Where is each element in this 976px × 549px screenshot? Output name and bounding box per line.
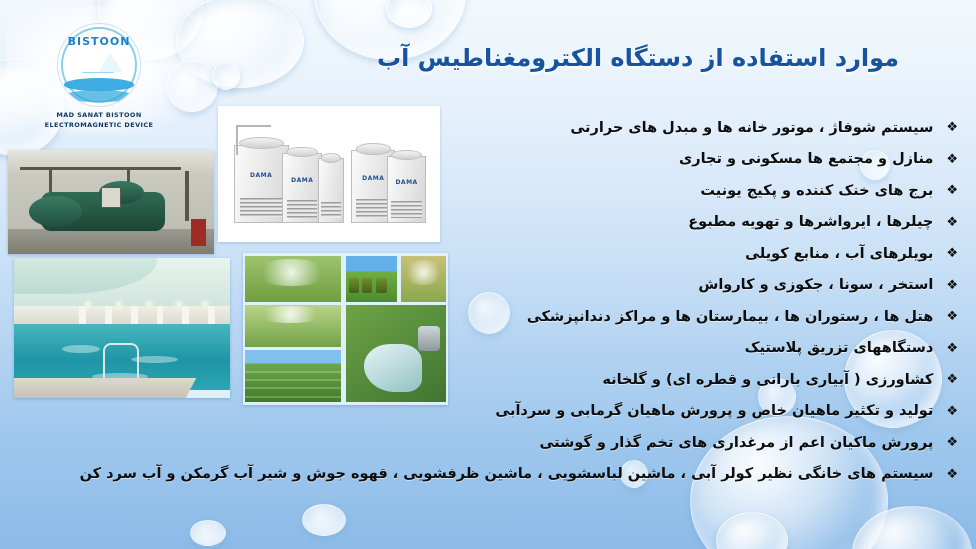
- list-item-label: کشاورزی ( آبیاری بارانی و قطره ای) و گلخ…: [602, 372, 933, 388]
- wave-icon: [64, 90, 134, 102]
- bullet-diamond-icon: ❖: [946, 121, 958, 134]
- bullet-diamond-icon: ❖: [946, 373, 958, 386]
- bullet-diamond-icon: ❖: [946, 184, 958, 197]
- bullet-diamond-icon: ❖: [946, 153, 958, 166]
- decorative-bubble: [716, 512, 788, 549]
- list-item-label: برج های خنک کننده و پکیج یونیت: [700, 183, 933, 199]
- list-item: ❖ منازل و مجتمع ها مسکونی و تجاری: [78, 144, 958, 176]
- bullet-diamond-icon: ❖: [946, 342, 958, 355]
- list-item-label: چیلرها ، ایرواشرها و تهویه مطبوع: [688, 214, 933, 230]
- decorative-bubble: [386, 0, 432, 28]
- presentation-slide: BISTOON MAD SANAT BISTOON ELECTROMAGNETI…: [0, 0, 976, 549]
- logo-wordmark: BISTOON: [58, 35, 140, 48]
- list-item-label: بویلرهای آب ، منابع کویلی: [745, 246, 933, 262]
- list-item: ❖ پرورش ماکیان اعم از مرغداری های تخم گذ…: [78, 427, 958, 459]
- bistoon-logo-mark: BISTOON: [58, 24, 140, 106]
- decorative-bubble: [302, 504, 346, 536]
- list-item-label: دستگاههای تزریق پلاستیک: [745, 340, 934, 356]
- decorative-bubble: [190, 520, 226, 546]
- list-item: ❖ برج های خنک کننده و پکیج یونیت: [78, 175, 958, 207]
- bullet-diamond-icon: ❖: [946, 436, 958, 449]
- bullet-diamond-icon: ❖: [946, 216, 958, 229]
- slide-title: موارد استفاده از دستگاه الکترومغناطیس آب: [328, 44, 948, 72]
- list-item-label: سیستم شوفاژ ، موتور خانه ها و مبدل های ح…: [570, 120, 933, 136]
- bullet-diamond-icon: ❖: [946, 310, 958, 323]
- list-item-label: پرورش ماکیان اعم از مرغداری های تخم گذار…: [539, 435, 933, 451]
- bullet-diamond-icon: ❖: [946, 468, 958, 481]
- list-item: ❖ استخر ، سونا ، جکوزی و کارواش: [78, 270, 958, 302]
- bullet-diamond-icon: ❖: [946, 247, 958, 260]
- list-item: ❖ کشاورزی ( آبیاری بارانی و قطره ای) و گ…: [78, 364, 958, 396]
- list-item: ❖ دستگاههای تزریق پلاستیک: [78, 333, 958, 365]
- list-item-label: تولید و تکثیر ماهیان خاص و پرورش ماهیان …: [495, 403, 933, 419]
- list-item: ❖ تولید و تکثیر ماهیان خاص و پرورش ماهیا…: [78, 396, 958, 428]
- list-item-label: هتل ها ، رستوران ها ، بیمارستان ها و مرا…: [527, 309, 934, 325]
- list-item: ❖ بویلرهای آب ، منابع کویلی: [78, 238, 958, 270]
- list-item-label: منازل و مجتمع ها مسکونی و تجاری: [679, 151, 933, 167]
- list-item: ❖ سیستم های خانگی نظیر کولر آبی ، ماشین …: [78, 459, 958, 491]
- list-item: ❖ هتل ها ، رستوران ها ، بیمارستان ها و م…: [78, 301, 958, 333]
- bullet-diamond-icon: ❖: [946, 405, 958, 418]
- list-item-label: استخر ، سونا ، جکوزی و کارواش: [698, 277, 933, 293]
- decorative-bubble: [852, 506, 972, 549]
- list-item-label: سیستم های خانگی نظیر کولر آبی ، ماشین لب…: [80, 466, 934, 482]
- list-item: ❖ سیستم شوفاژ ، موتور خانه ها و مبدل های…: [78, 112, 958, 144]
- mountain-icon: [99, 53, 123, 72]
- applications-list: ❖ سیستم شوفاژ ، موتور خانه ها و مبدل های…: [78, 112, 958, 490]
- list-item: ❖ چیلرها ، ایرواشرها و تهویه مطبوع: [78, 207, 958, 239]
- bullet-diamond-icon: ❖: [946, 279, 958, 292]
- decorative-bubble: [212, 62, 240, 90]
